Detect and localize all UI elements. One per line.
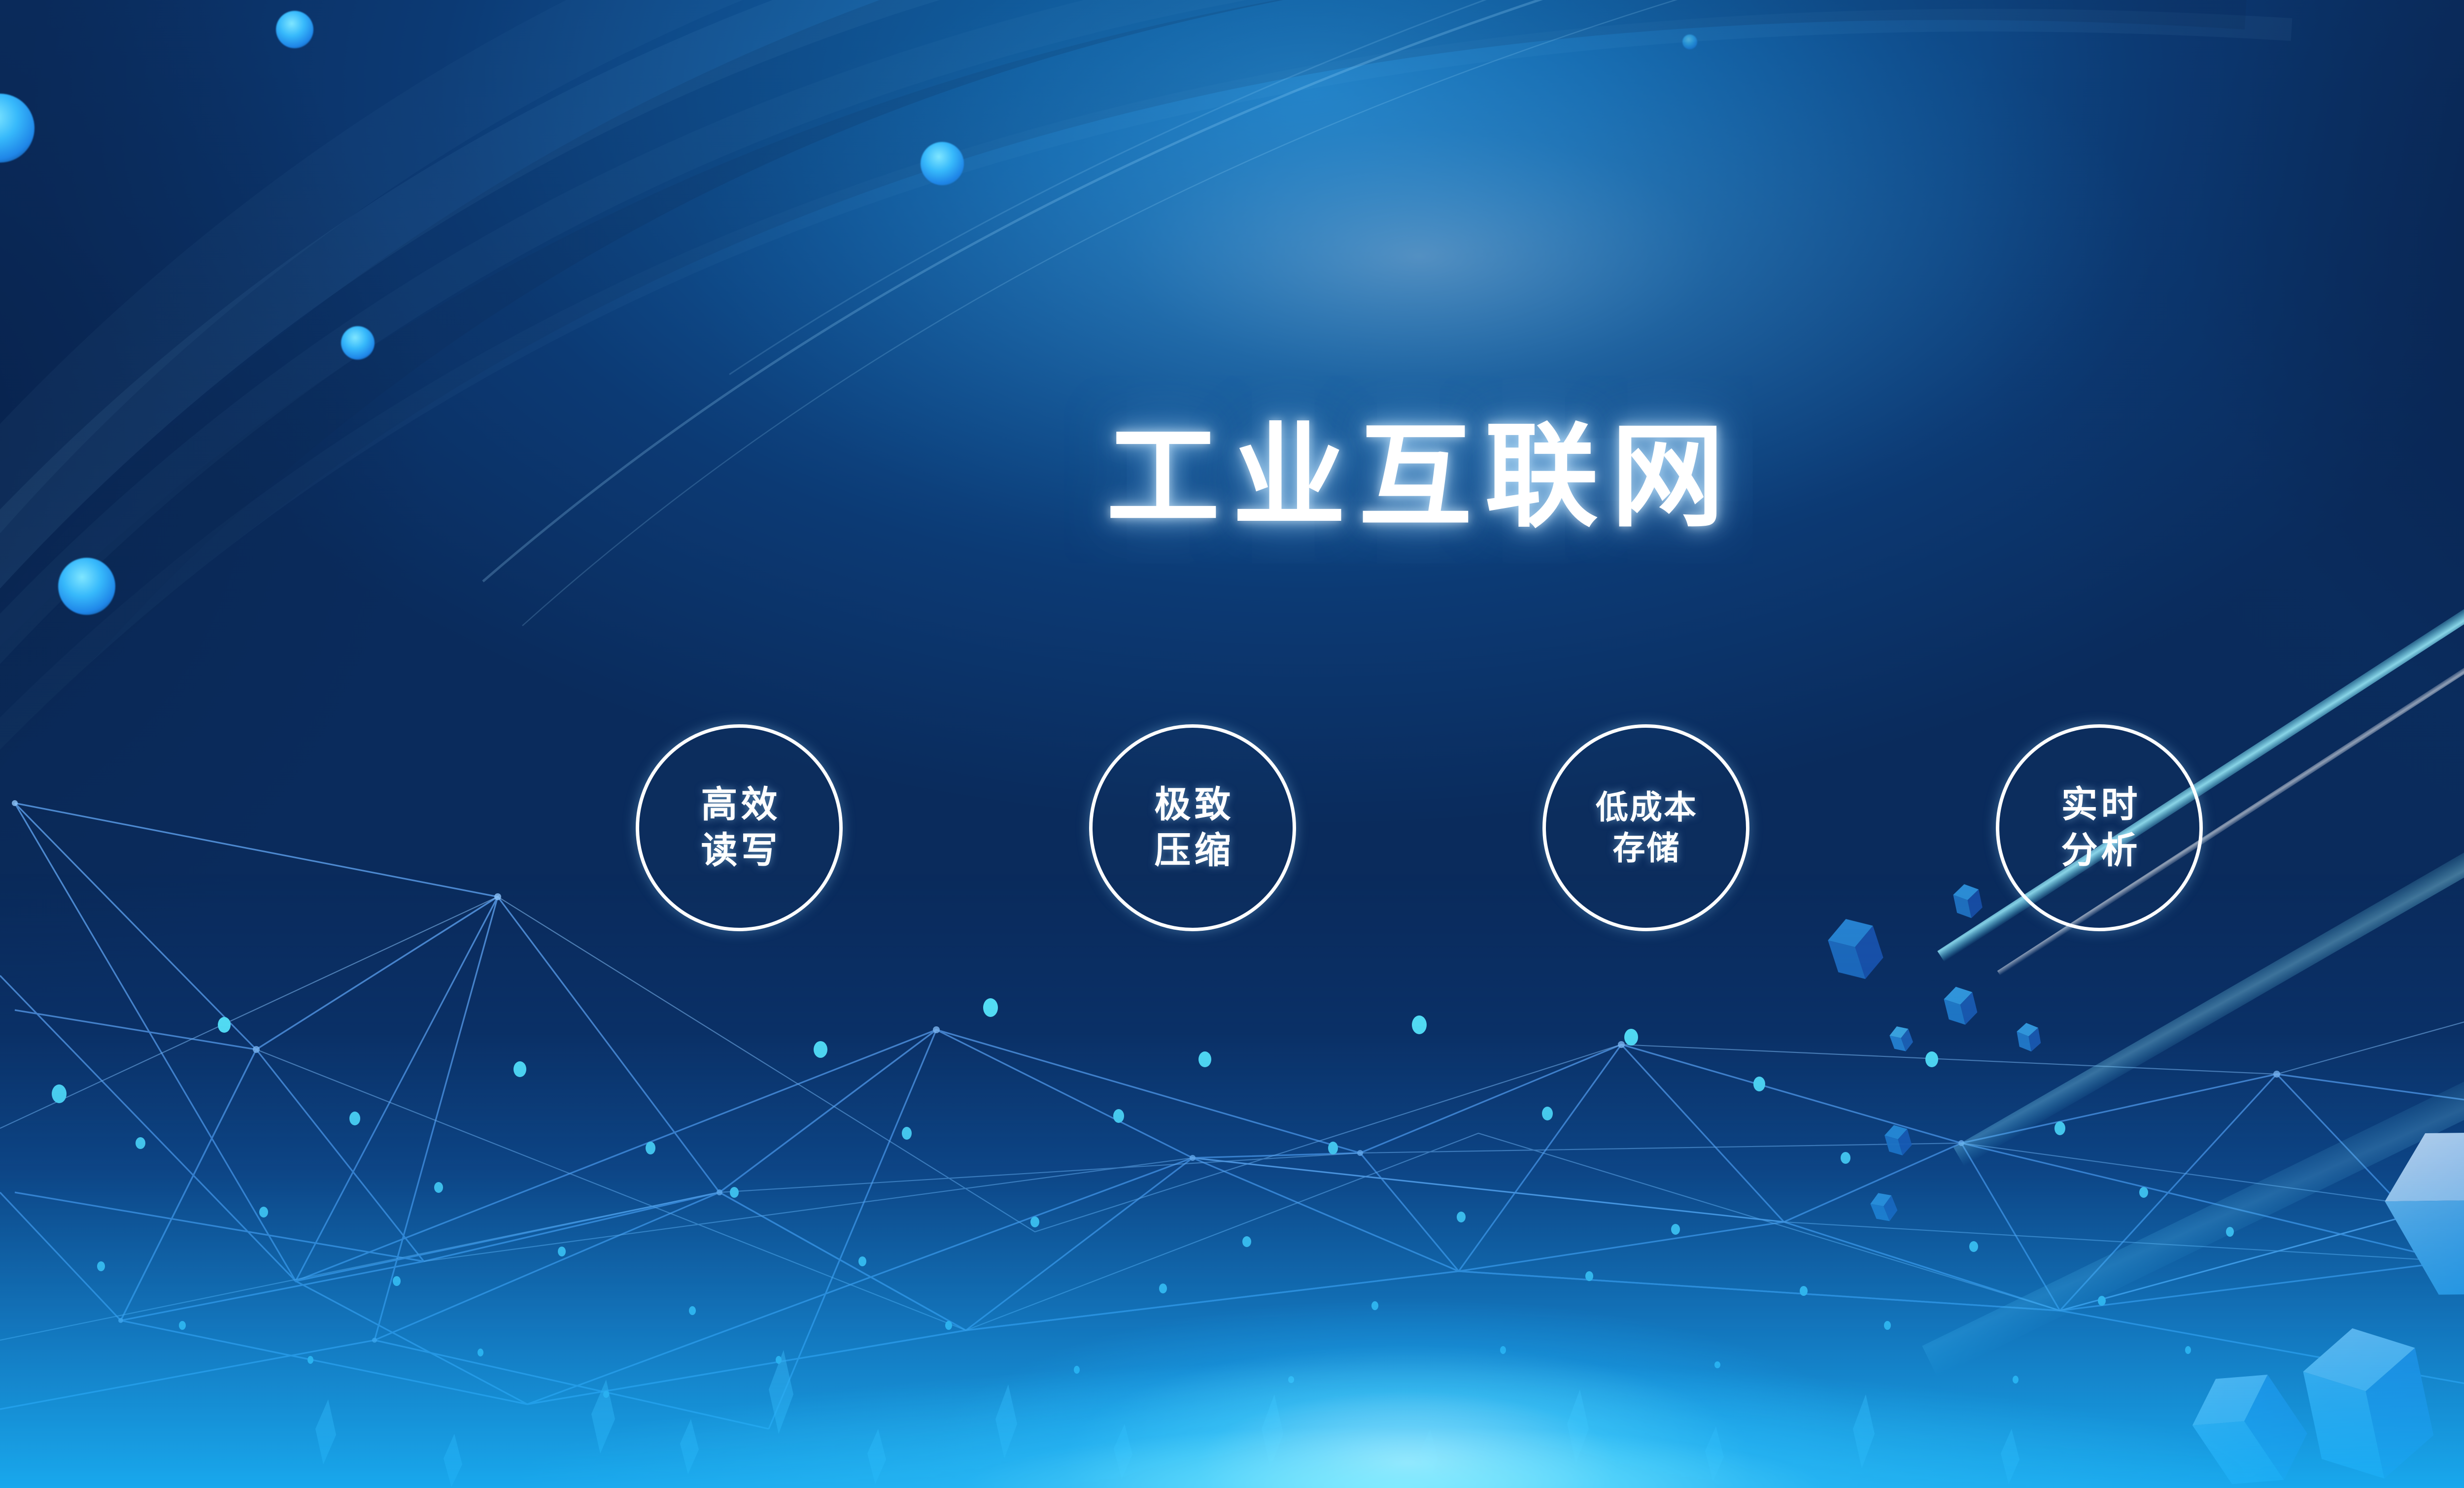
floor-light-core bbox=[0, 1232, 2464, 1488]
feature-label-line2: 分析 bbox=[2058, 828, 2141, 874]
particle-orb bbox=[921, 142, 964, 185]
feature-label-line2: 存储 bbox=[1611, 828, 1681, 869]
particle-orb bbox=[276, 11, 313, 48]
feature-circle-efficient-read-write[interactable]: 高效 读写 bbox=[636, 724, 843, 931]
page-title: 工业互联网 bbox=[0, 421, 2464, 534]
feature-label-line2: 压缩 bbox=[1151, 828, 1234, 874]
feature-circle-extreme-compression[interactable]: 极致 压缩 bbox=[1089, 724, 1296, 931]
feature-label-line1: 实时 bbox=[2058, 782, 2141, 828]
feature-circle-realtime-analysis[interactable]: 实时 分析 bbox=[1996, 724, 2203, 931]
particle-orb bbox=[58, 558, 115, 615]
feature-label-line2: 读写 bbox=[698, 828, 781, 874]
feature-label-line1: 低成本 bbox=[1594, 787, 1698, 828]
feature-label-line1: 高效 bbox=[698, 782, 781, 828]
slide-canvas: 工业互联网 高效 读写 极致 压缩 低成本 存储 实时 分析 bbox=[0, 0, 2464, 1488]
feature-circle-low-cost-storage[interactable]: 低成本 存储 bbox=[1542, 724, 1749, 931]
feature-circle-group: 高效 读写 极致 压缩 低成本 存储 实时 分析 bbox=[636, 724, 2203, 931]
particle-orb bbox=[1682, 34, 1697, 49]
feature-label-line1: 极致 bbox=[1151, 782, 1234, 828]
particle-orb bbox=[341, 326, 375, 360]
